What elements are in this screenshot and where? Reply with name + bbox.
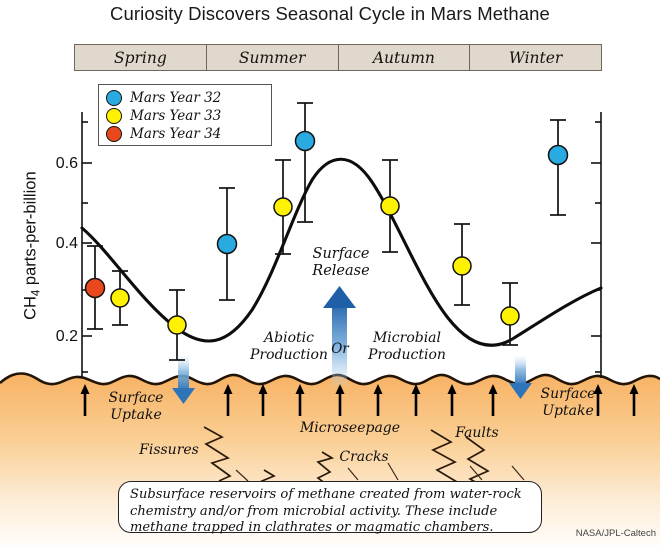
data-point-my33 <box>501 307 519 325</box>
annotation-microseepage: Microseepage <box>290 420 410 437</box>
annotation-microbial-production: Microbial Production <box>357 330 457 363</box>
y-axis-right-ticks <box>591 122 601 372</box>
annotation-surface-uptake-right: Surface Uptake <box>528 386 608 419</box>
legend-label: Mars Year 32 <box>130 90 221 106</box>
legend-label: Mars Year 33 <box>130 108 221 124</box>
data-point-my34 <box>86 279 105 298</box>
legend-item-my33: Mars Year 33 <box>106 107 265 125</box>
data-point-my32 <box>549 146 568 165</box>
data-point-my33 <box>381 197 399 215</box>
annotation-abiotic-production: Abiotic Production <box>244 330 334 363</box>
legend-item-my32: Mars Year 32 <box>106 89 265 107</box>
data-point-my33 <box>274 198 292 216</box>
legend-swatch-icon <box>106 90 122 106</box>
error-bar <box>550 120 566 215</box>
annotation-fissures: Fissures <box>128 442 210 459</box>
legend-swatch-icon <box>106 108 122 124</box>
y-axis-left-ticks <box>82 122 92 372</box>
annotation-or: Or <box>326 342 354 358</box>
data-points <box>86 132 568 335</box>
annotation-cracks: Cracks <box>330 449 398 466</box>
data-point-my33 <box>453 257 471 275</box>
legend-swatch-icon <box>106 126 122 142</box>
legend-item-my34: Mars Year 34 <box>106 125 265 143</box>
data-point-my33 <box>111 289 129 307</box>
credit-text: NASA/JPL-Caltech <box>576 528 656 539</box>
caption-box: Subsurface reservoirs of methane created… <box>118 481 542 533</box>
data-point-my32 <box>218 235 237 254</box>
annotation-faults: Faults <box>444 425 510 442</box>
annotation-surface-uptake-left: Surface Uptake <box>96 390 176 423</box>
data-point-my32 <box>296 132 315 151</box>
figure-root: Curiosity Discovers Seasonal Cycle in Ma… <box>0 0 660 546</box>
legend: Mars Year 32 Mars Year 33 Mars Year 34 <box>98 84 272 146</box>
annotation-surface-release: Surface Release <box>296 246 386 280</box>
legend-label: Mars Year 34 <box>130 126 221 142</box>
data-point-my33 <box>168 316 186 334</box>
